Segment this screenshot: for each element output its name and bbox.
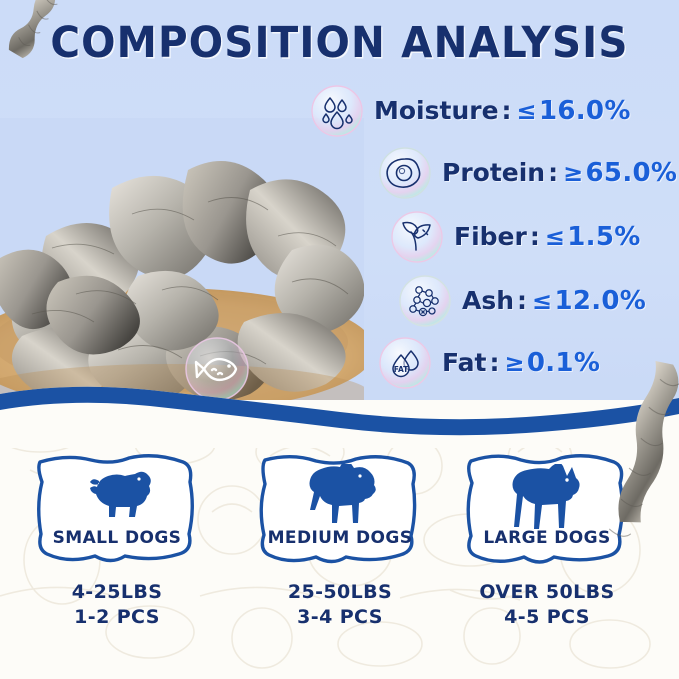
fried-egg-icon <box>378 146 432 200</box>
card-frame: SMALL DOGS <box>33 450 201 568</box>
nutrient-operator: ≤ <box>517 97 537 125</box>
nutrient-label: Moisture <box>374 96 499 125</box>
nutrient-operator: ≥ <box>563 159 583 187</box>
molecule-icon <box>398 274 452 328</box>
water-drops-icon <box>310 84 364 138</box>
infographic-page: COMPOSITION ANALYSIS <box>0 0 679 679</box>
card-weight: 25-50LBS <box>245 580 435 605</box>
nutrient-separator: : <box>489 348 499 377</box>
nutrient-row-fat: FAT Fat : ≥0.1% <box>378 336 600 390</box>
page-title: COMPOSITION ANALYSIS <box>20 18 658 68</box>
feeding-guide-cards: SMALL DOGS 4-25LBS 1-2 PCS <box>0 450 679 679</box>
card-title: MEDIUM DOGS <box>256 528 424 548</box>
nutrient-row-ash: Ash : ≤12.0% <box>398 274 646 328</box>
card-title: SMALL DOGS <box>33 528 201 548</box>
nutrient-label: Fat <box>442 348 486 377</box>
feeding-guide-section: SMALL DOGS 4-25LBS 1-2 PCS <box>0 400 679 679</box>
treat-stick-decoration-right <box>596 352 679 582</box>
card-weight: OVER 50LBS <box>452 580 642 605</box>
nutrient-operator: ≤ <box>532 287 552 315</box>
nutrient-value: 65.0% <box>586 158 678 188</box>
nutrient-row-fiber: Fiber : ≤1.5% <box>390 210 641 264</box>
size-card-small[interactable]: SMALL DOGS 4-25LBS 1-2 PCS <box>22 450 212 630</box>
nutrient-value: 16.0% <box>539 96 631 126</box>
card-details: 25-50LBS 3-4 PCS <box>245 580 435 630</box>
nutrient-separator: : <box>530 222 540 251</box>
composition-section: COMPOSITION ANALYSIS <box>0 0 679 420</box>
card-frame: MEDIUM DOGS <box>256 450 424 568</box>
nutrient-value: 12.0% <box>554 286 646 316</box>
card-pieces: 3-4 PCS <box>245 605 435 630</box>
leaf-icon <box>390 210 444 264</box>
card-details: OVER 50LBS 4-5 PCS <box>452 580 642 630</box>
nutrient-row-protein: Protein : ≥65.0% <box>378 146 677 200</box>
nutrient-operator: ≤ <box>545 223 565 251</box>
nutrient-label: Ash <box>462 286 514 315</box>
treat-stick-decoration-top-left <box>0 0 74 74</box>
nutrient-separator: : <box>517 286 527 315</box>
card-details: 4-25LBS 1-2 PCS <box>22 580 212 630</box>
fat-drop-icon: FAT <box>378 336 432 390</box>
medium-dog-icon <box>256 464 424 530</box>
card-pieces: 4-5 PCS <box>452 605 642 630</box>
small-dog-icon <box>33 464 201 524</box>
fish-icon <box>184 336 250 402</box>
nutrient-label: Protein <box>442 158 545 187</box>
size-card-medium[interactable]: MEDIUM DOGS 25-50LBS 3-4 PCS <box>245 450 435 630</box>
svg-text:FAT: FAT <box>394 365 409 374</box>
product-photo <box>0 118 364 403</box>
nutrient-label: Fiber <box>454 222 527 251</box>
nutrient-separator: : <box>502 96 512 125</box>
nutrient-value: 1.5% <box>567 222 640 252</box>
card-pieces: 1-2 PCS <box>22 605 212 630</box>
nutrient-row-moisture: Moisture : ≤16.0% <box>310 84 631 138</box>
card-weight: 4-25LBS <box>22 580 212 605</box>
nutrient-value: 0.1% <box>527 348 600 378</box>
nutrient-separator: : <box>548 158 558 187</box>
nutrient-operator: ≥ <box>504 349 524 377</box>
